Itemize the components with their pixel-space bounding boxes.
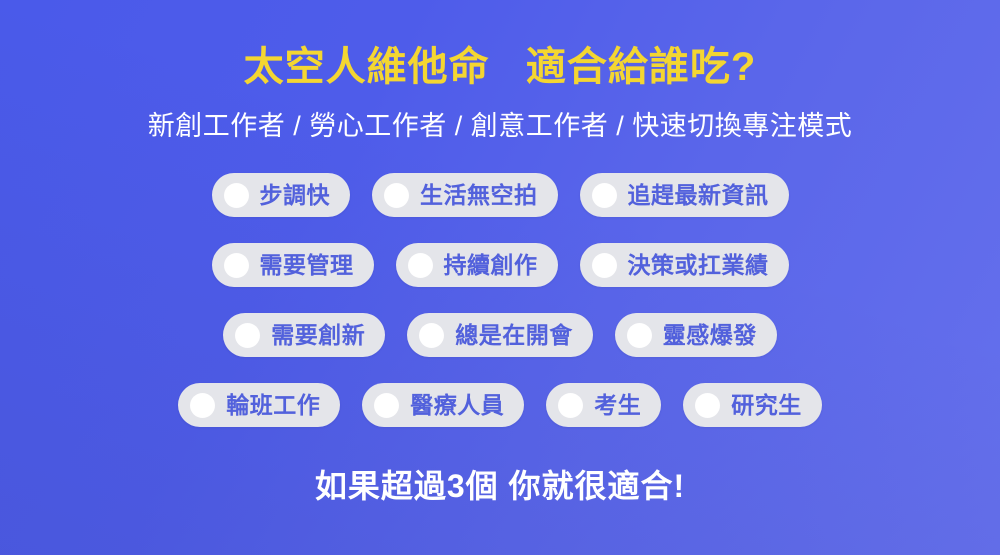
pill-row-2: 需要管理 持續創作 決策或扛業績 bbox=[212, 243, 789, 287]
circle-bullet-icon bbox=[627, 323, 652, 348]
tag-pill[interactable]: 總是在開會 bbox=[407, 313, 593, 357]
tag-pill[interactable]: 需要創新 bbox=[223, 313, 385, 357]
tag-pill[interactable]: 需要管理 bbox=[212, 243, 374, 287]
circle-bullet-icon bbox=[235, 323, 260, 348]
tag-pill[interactable]: 輪班工作 bbox=[178, 383, 340, 427]
tag-pill-label: 靈感爆發 bbox=[663, 324, 757, 347]
pill-row-4: 輪班工作 醫療人員 考生 研究生 bbox=[178, 383, 822, 427]
tag-pill[interactable]: 考生 bbox=[546, 383, 661, 427]
tag-pill-label: 步調快 bbox=[260, 184, 331, 207]
circle-bullet-icon bbox=[224, 253, 249, 278]
tag-pill[interactable]: 靈感爆發 bbox=[615, 313, 777, 357]
circle-bullet-icon bbox=[384, 183, 409, 208]
circle-bullet-icon bbox=[558, 393, 583, 418]
circle-bullet-icon bbox=[419, 323, 444, 348]
tag-pill-label: 持續創作 bbox=[444, 254, 538, 277]
tag-pill[interactable]: 步調快 bbox=[212, 173, 351, 217]
tag-pill-label: 需要創新 bbox=[271, 324, 365, 347]
tag-pill[interactable]: 研究生 bbox=[683, 383, 822, 427]
page-title-primary: 太空人維他命 bbox=[244, 45, 490, 89]
poster-content: 太空人維他命 適合給誰吃? 新創工作者 / 勞心工作者 / 創意工作者 / 快速… bbox=[0, 0, 1000, 555]
page-title-question: 適合給誰吃? bbox=[526, 45, 756, 89]
tag-pill-label: 決策或扛業績 bbox=[628, 254, 769, 277]
tag-pill-label: 醫療人員 bbox=[410, 394, 504, 417]
circle-bullet-icon bbox=[408, 253, 433, 278]
tag-pill-label: 生活無空拍 bbox=[420, 184, 538, 207]
tag-pill-label: 追趕最新資訊 bbox=[628, 184, 769, 207]
tag-pill-label: 總是在開會 bbox=[455, 324, 573, 347]
tag-pill-grid: 步調快 生活無空拍 追趕最新資訊 需要管理 持續創作 bbox=[178, 173, 822, 427]
tag-pill[interactable]: 持續創作 bbox=[396, 243, 558, 287]
circle-bullet-icon bbox=[224, 183, 249, 208]
tag-pill[interactable]: 追趕最新資訊 bbox=[580, 173, 789, 217]
tag-pill[interactable]: 決策或扛業績 bbox=[580, 243, 789, 287]
tag-pill[interactable]: 醫療人員 bbox=[362, 383, 524, 427]
pill-row-1: 步調快 生活無空拍 追趕最新資訊 bbox=[212, 173, 789, 217]
circle-bullet-icon bbox=[592, 183, 617, 208]
tag-pill-label: 研究生 bbox=[731, 394, 802, 417]
tag-pill-label: 考生 bbox=[594, 394, 641, 417]
tag-pill-label: 需要管理 bbox=[260, 254, 354, 277]
page-title: 太空人維他命 適合給誰吃? bbox=[244, 44, 757, 90]
tag-pill[interactable]: 生活無空拍 bbox=[372, 173, 558, 217]
page-subtitle: 新創工作者 / 勞心工作者 / 創意工作者 / 快速切換專注模式 bbox=[148, 104, 853, 143]
circle-bullet-icon bbox=[592, 253, 617, 278]
tag-pill-label: 輪班工作 bbox=[226, 394, 320, 417]
footer-callout: 如果超過3個 你就很適合! bbox=[315, 461, 685, 507]
circle-bullet-icon bbox=[374, 393, 399, 418]
circle-bullet-icon bbox=[695, 393, 720, 418]
promo-poster: 太空人維他命 適合給誰吃? 新創工作者 / 勞心工作者 / 創意工作者 / 快速… bbox=[0, 0, 1000, 555]
circle-bullet-icon bbox=[190, 393, 215, 418]
pill-row-3: 需要創新 總是在開會 靈感爆發 bbox=[223, 313, 777, 357]
